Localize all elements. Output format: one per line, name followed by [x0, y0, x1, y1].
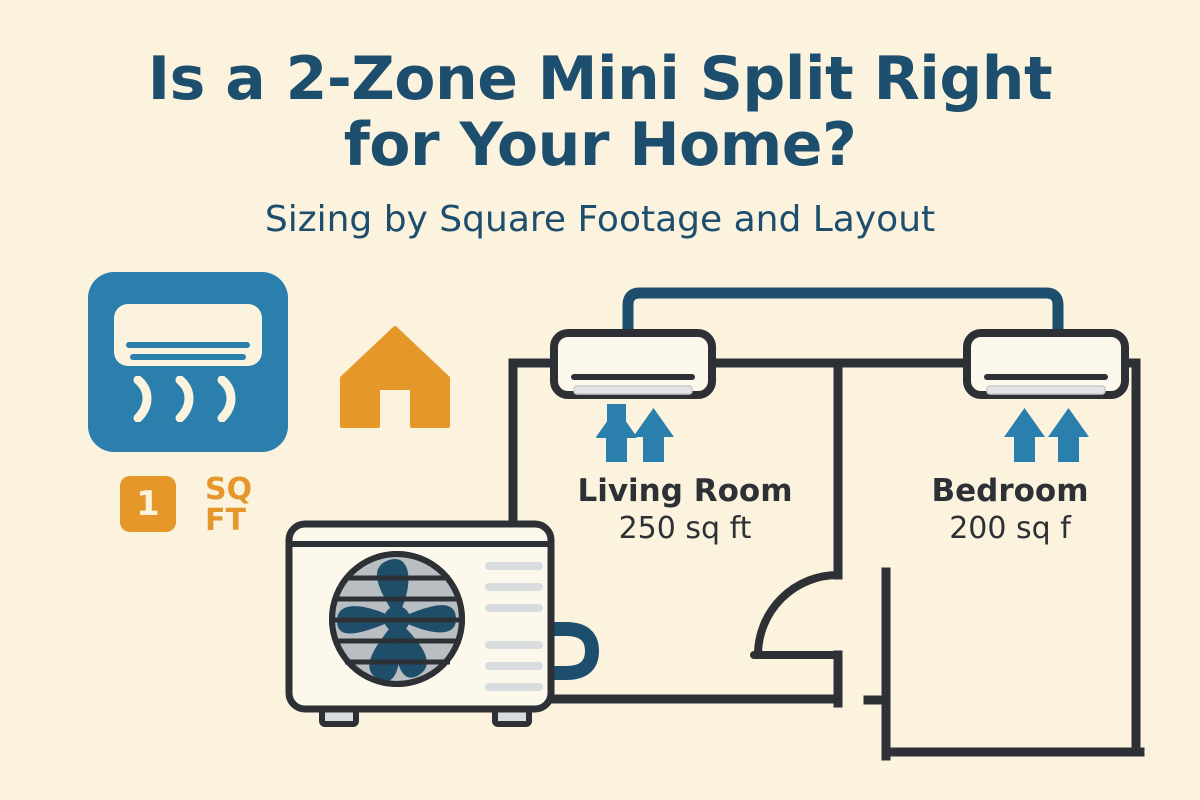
room-area-living-room: 250 sq ft [540, 510, 830, 548]
indoor-unit-living-room [554, 333, 712, 395]
wall-group [509, 363, 1140, 756]
room-name-living-room: Living Room [540, 472, 830, 510]
outdoor-condenser-unit [289, 524, 551, 724]
airflow-arrows-bedroom [1004, 408, 1089, 462]
room-label-bedroom: Bedroom 200 sq f [875, 472, 1145, 548]
condenser-fan [332, 554, 463, 684]
door-swing-living-room [754, 575, 838, 655]
airflow-arrows-living-room [596, 404, 674, 462]
room-name-bedroom: Bedroom [875, 472, 1145, 510]
floorplan-diagram [0, 0, 1200, 800]
indoor-unit-bedroom [967, 333, 1125, 395]
room-label-living-room: Living Room 250 sq ft [540, 472, 830, 548]
room-area-bedroom: 200 sq f [875, 510, 1145, 548]
infographic-canvas: Is a 2-Zone Mini Split Right for Your Ho… [0, 0, 1200, 800]
